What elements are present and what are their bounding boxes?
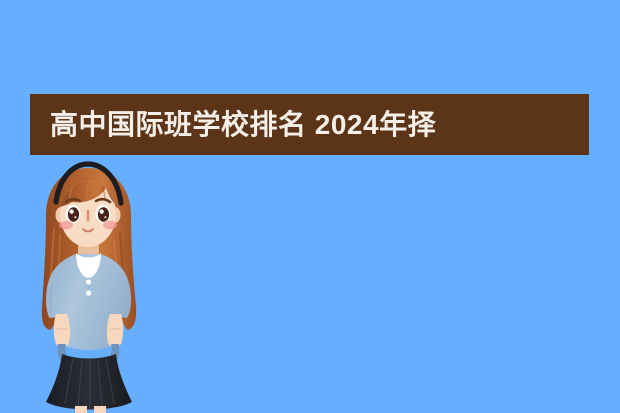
schoolgirl-graphic bbox=[20, 158, 180, 413]
poster-canvas: 高中国际班学校排名 2024年择 bbox=[0, 0, 620, 413]
arm-right bbox=[107, 314, 123, 347]
blush-right bbox=[103, 221, 117, 230]
leg-right bbox=[94, 406, 106, 413]
skirt bbox=[46, 354, 132, 410]
shirt-button bbox=[86, 290, 91, 295]
schoolgirl-illustration bbox=[20, 158, 180, 413]
eye-right bbox=[96, 205, 111, 223]
arm-left bbox=[54, 314, 70, 347]
shirt-button bbox=[86, 279, 91, 284]
page-title: 高中国际班学校排名 2024年择 bbox=[30, 111, 436, 139]
title-banner: 高中国际班学校排名 2024年择 bbox=[30, 94, 589, 155]
blush-left bbox=[59, 221, 73, 230]
leg-left bbox=[75, 406, 87, 413]
eye-left bbox=[66, 205, 81, 223]
